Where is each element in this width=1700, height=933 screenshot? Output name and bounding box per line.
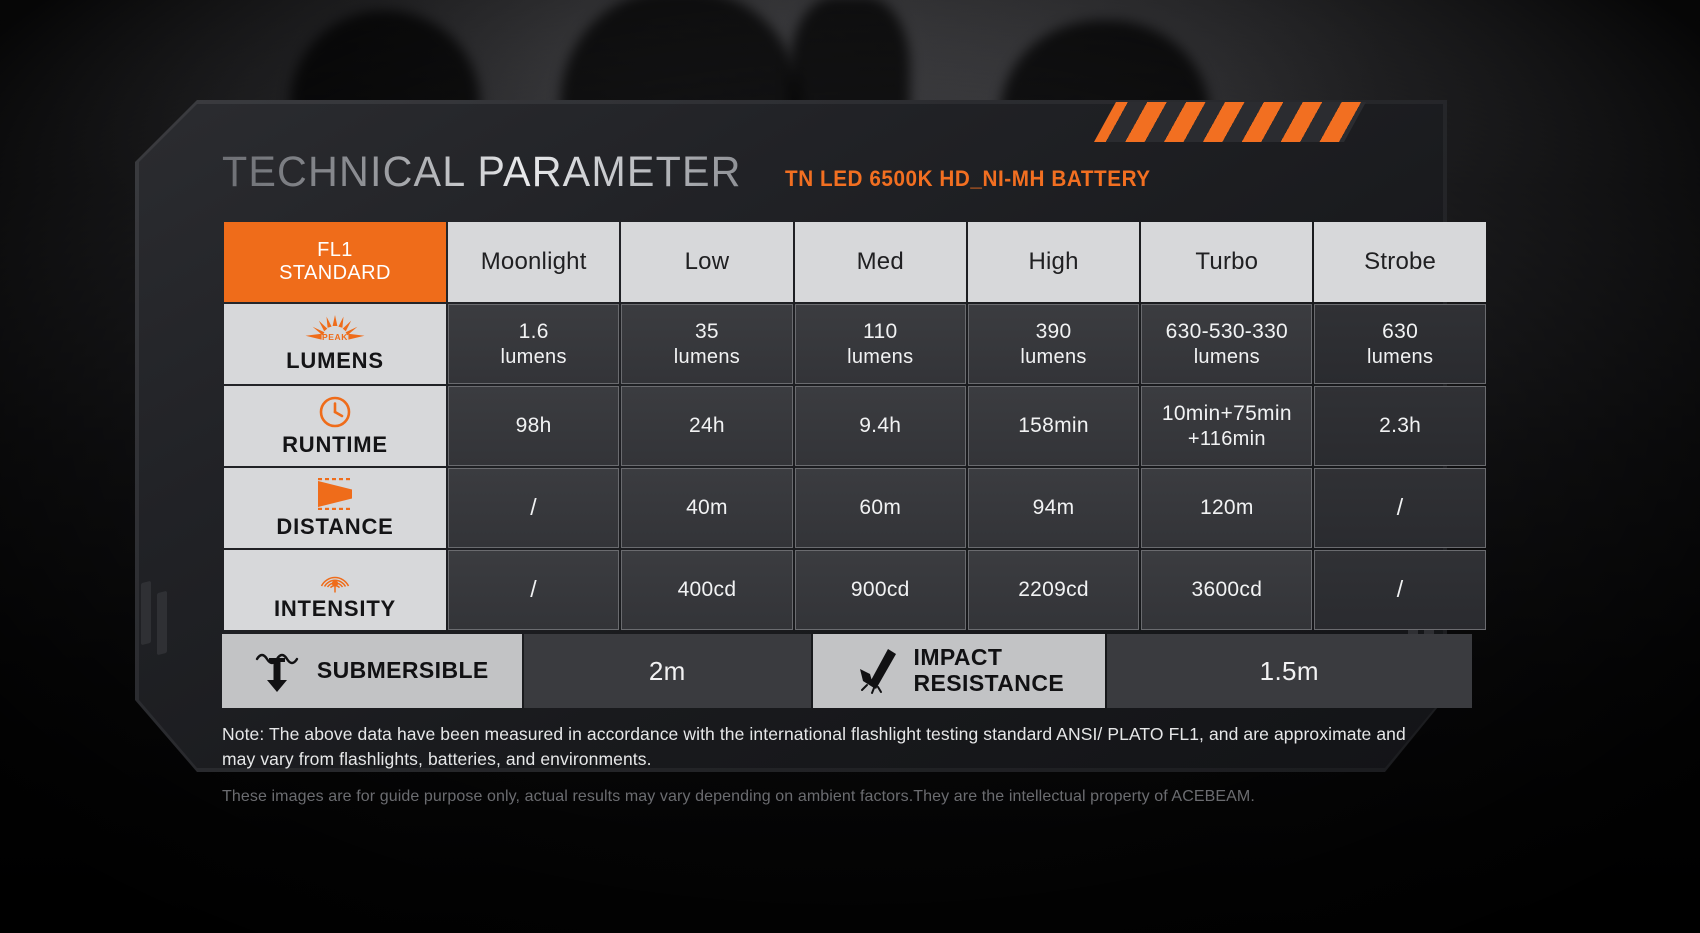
impact-label-line2: RESISTANCE [914,670,1065,696]
impact-label-line1: IMPACT [914,644,1003,670]
column-header-moonlight: Moonlight [448,222,619,302]
cell-lumens-low: 35 lumens [621,304,792,384]
cell-value-line1: 10min+75min [1162,402,1292,425]
cell-runtime-turbo: 10min+75min +116min [1141,386,1312,466]
cell-value: 35 [695,320,719,343]
impact-label-cell: IMPACT RESISTANCE [813,634,1105,708]
cell-lumens-turbo: 630-530-330 lumens [1141,304,1312,384]
table-row-runtime: RUNTIME 98h 24h 9.4h 158min 10min+75min … [224,386,1486,466]
image-disclaimer: These images are for guide purpose only,… [222,788,1474,806]
hammer-check-icon [854,647,904,695]
cell-lumens-moonlight: 1.6 lumens [448,304,619,384]
cell-intensity-moonlight: / [448,550,619,630]
submersible-label-cell: SUBMERSIBLE [222,634,522,708]
cell-value: 110 [863,320,897,343]
cell-runtime-low: 24h [621,386,792,466]
hazard-stripes-decoration [1094,102,1366,142]
row-label-runtime: RUNTIME [224,386,446,466]
row-label-text-runtime: RUNTIME [282,432,388,458]
cell-value: 1.6 [519,320,549,343]
cell-unit: lumens [626,345,787,369]
specifications-table: FL1 STANDARD Moonlight Low Med High Turb… [222,220,1488,632]
cell-value: 630 [1382,320,1418,343]
fl1-line2: STANDARD [279,262,391,284]
cell-intensity-strobe: / [1314,550,1485,630]
cell-unit: lumens [973,345,1134,369]
cell-runtime-moonlight: 98h [448,386,619,466]
cell-distance-strobe: / [1314,468,1485,548]
water-depth-arrow-icon [255,648,307,694]
title-row: TECHNICAL PARAMETER TN LED 6500K HD_NI-M… [222,148,1474,202]
cell-distance-med: 60m [795,468,966,548]
beam-distance-icon [316,477,354,511]
row-label-text-distance: DISTANCE [276,514,393,540]
panel-notch-decoration [141,581,151,645]
cell-intensity-turbo: 3600cd [1141,550,1312,630]
peak-sunburst-icon: PEAK [304,315,366,345]
bottom-rating-strip: SUBMERSIBLE 2m IMPACT RESISTANCE [222,634,1472,708]
cell-distance-high: 94m [968,468,1139,548]
row-label-text-lumens: LUMENS [286,348,384,374]
row-label-lumens: PEAK LUMENS [224,304,446,384]
cell-value-line2: +116min [1146,427,1307,451]
cell-lumens-high: 390 lumens [968,304,1139,384]
cell-unit: lumens [800,345,961,369]
cell-unit: lumens [1319,345,1480,369]
impact-label-text: IMPACT RESISTANCE [914,645,1065,697]
cell-intensity-low: 400cd [621,550,792,630]
column-header-turbo: Turbo [1141,222,1312,302]
svg-text:PEAK: PEAK [322,332,348,342]
cell-value: 630-530-330 [1166,320,1288,343]
cell-unit: lumens [453,345,614,369]
cell-intensity-med: 900cd [795,550,966,630]
cell-lumens-strobe: 630 lumens [1314,304,1485,384]
measurement-note: Note: The above data have been measured … [222,722,1412,772]
column-header-low: Low [621,222,792,302]
column-header-strobe: Strobe [1314,222,1485,302]
page-title: TECHNICAL PARAMETER [222,148,742,197]
cell-runtime-med: 9.4h [795,386,966,466]
table-header-row: FL1 STANDARD Moonlight Low Med High Turb… [224,222,1486,302]
column-header-high: High [968,222,1139,302]
fl1-line1: FL1 [317,239,353,261]
fl1-standard-header: FL1 STANDARD [224,222,446,302]
page-subtitle: TN LED 6500K HD_NI-MH BATTERY [785,166,1151,192]
row-label-intensity: INTENSITY [224,550,446,630]
column-header-med: Med [795,222,966,302]
cell-distance-turbo: 120m [1141,468,1312,548]
spec-sheet-stage: TECHNICAL PARAMETER TN LED 6500K HD_NI-M… [0,0,1700,933]
panel-content: TECHNICAL PARAMETER TN LED 6500K HD_NI-M… [222,148,1474,806]
cell-lumens-med: 110 lumens [795,304,966,384]
impact-value: 1.5m [1107,634,1472,708]
cell-unit: lumens [1146,345,1307,369]
cell-runtime-high: 158min [968,386,1139,466]
submersible-value: 2m [524,634,812,708]
row-label-distance: DISTANCE [224,468,446,548]
table-row-intensity: INTENSITY / 400cd 900cd 2209cd 3600cd / [224,550,1486,630]
cell-runtime-strobe: 2.3h [1314,386,1485,466]
cell-value: 390 [1036,320,1072,343]
row-label-text-intensity: INTENSITY [274,596,396,622]
cell-distance-low: 40m [621,468,792,548]
panel-notch-decoration [157,591,167,655]
cell-distance-moonlight: / [448,468,619,548]
cell-intensity-high: 2209cd [968,550,1139,630]
table-row-distance: DISTANCE / 40m 60m 94m 120m / [224,468,1486,548]
table-row-lumens: PEAK LUMENS 1.6 lumens 35 lumens [224,304,1486,384]
radial-target-icon [317,559,353,593]
hazard-stripes-pattern [1094,102,1366,142]
submersible-label-text: SUBMERSIBLE [317,658,489,684]
clock-icon [318,395,352,429]
